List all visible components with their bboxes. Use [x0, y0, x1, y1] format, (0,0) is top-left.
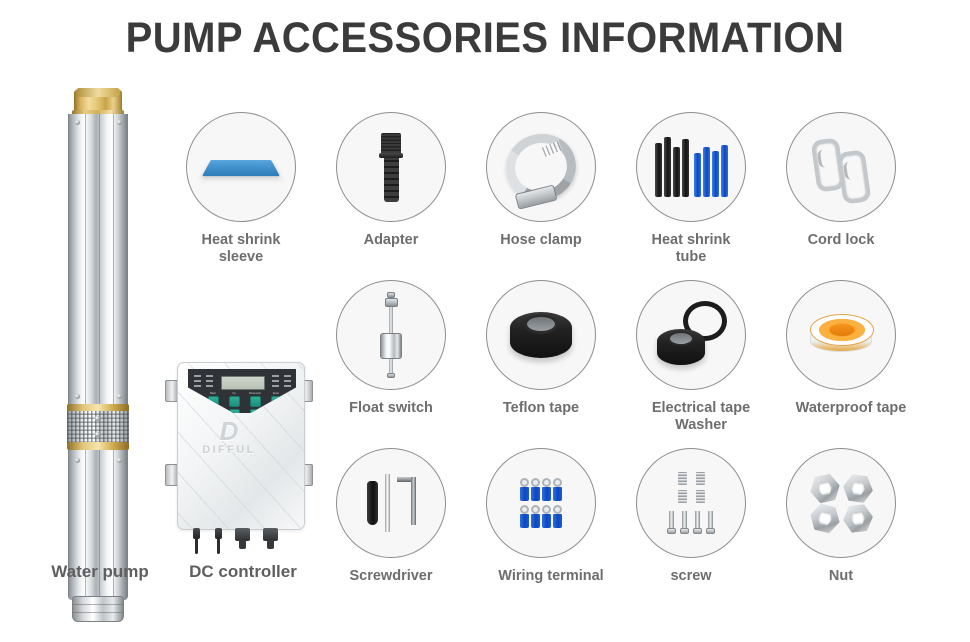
pump-intake-screen: [67, 411, 129, 443]
controller-mc4-connector-positive: [215, 528, 222, 539]
screwdriver-icon: [337, 449, 445, 557]
teflon-tape-icon: [487, 281, 595, 389]
accessory-label-nut: Nut: [776, 568, 906, 585]
float-switch-icon: [337, 281, 445, 389]
accessory-circle-waterproof-tape[interactable]: [786, 280, 896, 390]
pump-head-top: [76, 88, 120, 97]
controller-button-up[interactable]: [229, 396, 240, 407]
controller-button-label-3: Enter: [268, 392, 284, 395]
wiring-terminal-icon: [487, 449, 595, 557]
water-pump-label: Water pump: [28, 562, 172, 582]
controller-brand-logo: D DIFFUL: [194, 418, 264, 456]
accessory-circle-heat-shrink-tube[interactable]: [636, 112, 746, 222]
controller-button-label-0: Back: [205, 392, 221, 395]
difful-logo-mark: D: [194, 418, 264, 444]
controller-button-label-2: Parameter: [247, 392, 263, 395]
hose-clamp-icon: [487, 113, 595, 221]
nut-icon: [787, 449, 895, 557]
heat-shrink-tube-icon: [637, 113, 745, 221]
accessory-label-screwdriver: Screwdriver: [326, 568, 456, 585]
accessory-circle-float-switch[interactable]: [336, 280, 446, 390]
heat-shrink-sleeve-icon: [187, 113, 295, 221]
controller-cable-gland-left: [235, 528, 250, 541]
waterproof-tape-icon: [787, 281, 895, 389]
cord-lock-icon: [787, 113, 895, 221]
dc-controller-icon: Back Up Parameter Enter D DIFFUL: [163, 358, 323, 548]
controller-cable-gland-right: [263, 528, 278, 541]
accessory-circle-cord-lock[interactable]: [786, 112, 896, 222]
accessory-circle-electrical-tape-washer[interactable]: [636, 280, 746, 390]
accessory-label-cord-lock: Cord lock: [776, 232, 906, 249]
accessory-label-hose-clamp: Hose clamp: [476, 232, 606, 249]
controller-mc4-connector-negative: [193, 528, 200, 539]
adapter-icon: [337, 113, 445, 221]
accessory-label-screw: screw: [626, 568, 756, 585]
accessory-label-float-switch: Float switch: [326, 400, 456, 417]
accessory-label-heat-shrink-sleeve: Heat shrink sleeve: [176, 232, 306, 266]
accessory-circle-wiring-terminal[interactable]: [486, 448, 596, 558]
controller-enclosure: Back Up Parameter Enter D DIFFUL: [177, 362, 305, 530]
accessory-circle-hose-clamp[interactable]: [486, 112, 596, 222]
submersible-pump-icon: [62, 88, 134, 540]
accessory-circle-screwdriver[interactable]: [336, 448, 446, 558]
accessory-label-waterproof-tape: Waterproof tape: [771, 400, 931, 417]
accessory-circle-screw[interactable]: [636, 448, 746, 558]
accessory-circle-heat-shrink-sleeve[interactable]: [186, 112, 296, 222]
pump-upper-barrel: [68, 114, 128, 406]
pump-motor-base: [72, 596, 124, 622]
accessory-label-heat-shrink-tube: Heat shrink tube: [626, 232, 756, 266]
pump-accessories-infographic: PUMP ACCESSORIES INFORMATION: [0, 0, 970, 642]
accessory-circle-nut[interactable]: [786, 448, 896, 558]
accessory-label-electrical-tape-washer: Electrical tape Washer: [621, 400, 781, 434]
accessory-label-teflon-tape: Teflon tape: [476, 400, 606, 417]
pump-brass-collar-bottom: [67, 442, 129, 450]
difful-logo-text: DIFFUL: [194, 444, 264, 456]
controller-button-parameter[interactable]: [250, 396, 261, 407]
accessory-label-adapter: Adapter: [326, 232, 456, 249]
accessory-circle-adapter[interactable]: [336, 112, 446, 222]
electrical-tape-washer-icon: [637, 281, 745, 389]
accessory-label-wiring-terminal: Wiring terminal: [471, 568, 631, 585]
screwdriver-handle: [367, 481, 378, 525]
screwdriver-shaft: [385, 474, 390, 532]
accessory-circle-teflon-tape[interactable]: [486, 280, 596, 390]
controller-lcd-display: [221, 376, 265, 390]
dc-controller-label: DC controller: [168, 562, 318, 582]
page-title: PUMP ACCESSORIES INFORMATION: [34, 12, 936, 64]
screw-icon: [637, 449, 745, 557]
controller-button-label-1: Up: [226, 392, 242, 395]
